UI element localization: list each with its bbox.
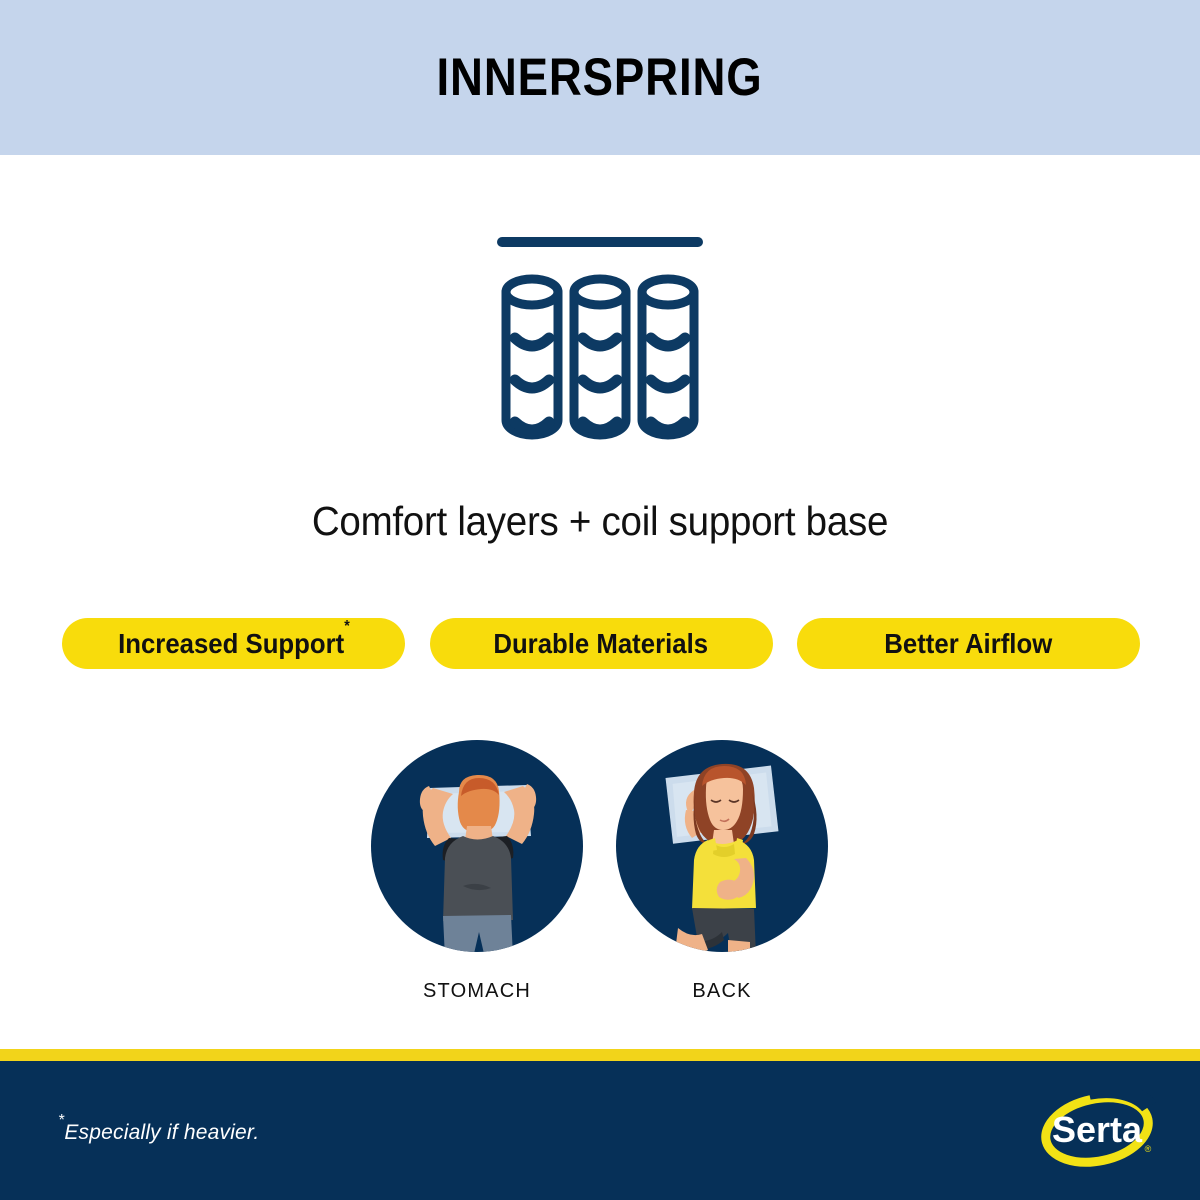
feature-pill-label: Increased Support*	[118, 628, 350, 660]
sleep-position-stomach[interactable]: STOMACH	[371, 740, 583, 1003]
page-title: INNERSPRING	[437, 47, 763, 108]
sleep-position-label: BACK	[616, 980, 828, 1003]
sleep-position-back[interactable]: BACK	[616, 740, 828, 1003]
feature-pill-label: Durable Materials	[494, 628, 709, 660]
sleep-position-label: STOMACH	[371, 980, 583, 1003]
feature-pill-better-airflow[interactable]: Better Airflow	[797, 618, 1140, 669]
feature-pill-label: Better Airflow	[885, 628, 1053, 660]
registered-trademark-icon: ®	[1145, 1144, 1152, 1154]
footer-yellow-stripe	[0, 1049, 1200, 1061]
footnote-asterisk: *	[58, 1112, 64, 1129]
back-sleeper-illustration	[616, 740, 828, 952]
serta-wordmark: Serta	[1052, 1109, 1143, 1150]
feature-pill-increased-support[interactable]: Increased Support*	[62, 618, 405, 669]
sleep-positions-row: STOMACH	[0, 740, 1200, 1030]
footnote: *Especially if heavier.	[58, 1118, 259, 1145]
stomach-sleeper-illustration	[371, 740, 583, 952]
coil-springs-icon	[490, 228, 710, 446]
header-band: INNERSPRING	[0, 0, 1200, 155]
feature-pill-row: Increased Support* Durable Materials Bet…	[62, 618, 1140, 669]
footnote-text: Especially if heavier.	[64, 1121, 259, 1144]
feature-pill-durable-materials[interactable]: Durable Materials	[430, 618, 773, 669]
footnote-marker: *	[344, 618, 350, 635]
subtitle: Comfort layers + coil support base	[36, 498, 1164, 545]
serta-logo[interactable]: Serta ®	[1035, 1090, 1160, 1172]
